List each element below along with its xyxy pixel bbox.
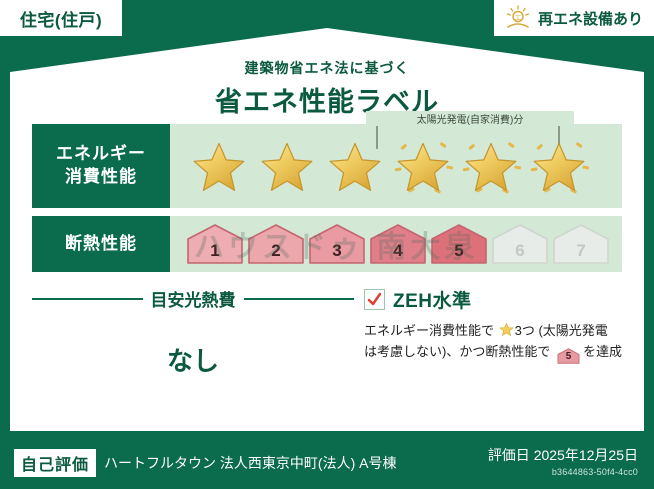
- insulation-grade-number: 4: [393, 241, 402, 265]
- insulation-grade-3: 3: [308, 223, 366, 265]
- zeh-heading: ZEH水準: [364, 286, 632, 313]
- insulation-grade-badge-value: 5: [557, 348, 580, 365]
- insulation-grade-number: 5: [454, 241, 463, 265]
- insulation-grade-badge-icon: 5: [557, 348, 580, 364]
- insulation-grade-number: 6: [515, 241, 524, 265]
- utility-cost-box: 目安光熱費 なし: [32, 286, 354, 378]
- property-name: ハートフルタウン 法人西東京中町(法人) A号棟: [104, 453, 396, 473]
- performance-rows: エネルギー 消費性能 太陽光発電(自家消費)分: [32, 124, 622, 280]
- star-icon: [325, 136, 385, 196]
- zeh-description: エネルギー消費性能で 3つ (太陽光発電 は考慮しない)、かつ断熱性能で 5 を…: [364, 320, 632, 364]
- solar-bracket-label: 太陽光発電(自家消費)分: [366, 111, 574, 126]
- lower-section: 目安光熱費 なし ZEH水準 エネルギー消費性能で: [32, 286, 632, 378]
- insulation-grade-1: 1: [186, 223, 244, 265]
- insulation-grade-number: 2: [271, 241, 280, 265]
- renewable-badge-label: 再エネ設備あり: [538, 8, 643, 29]
- zeh-desc-part2: 3つ (太陽光発電: [515, 323, 608, 338]
- label-card: 建築物省エネ法に基づく 省エネ性能ラベル エネルギー 消費性能 太陽光発電(自家…: [10, 28, 644, 431]
- svg-text:エ: エ: [515, 15, 522, 22]
- star-icon: [393, 136, 453, 196]
- housing-type-label: 住宅(住戸): [20, 6, 102, 31]
- housing-type-tag: 住宅(住戸): [0, 0, 122, 36]
- sun-solar-icon: エ: [504, 5, 532, 31]
- star-base: [186, 133, 252, 199]
- zeh-desc-part3: は考慮しない)、かつ断熱性能で: [364, 344, 550, 359]
- insulation-grade-number: 3: [332, 241, 341, 265]
- insulation-grade-5: 5: [430, 223, 488, 265]
- star-icon: [461, 136, 521, 196]
- zeh-box: ZEH水準 エネルギー消費性能で 3つ (太陽光発電 は考慮しない)、かつ断熱性…: [354, 286, 632, 378]
- zeh-desc-part4: を達成: [583, 344, 622, 359]
- footer-right: 評価日 2025年12月25日 b3644863-50f4-4cc0: [488, 445, 638, 477]
- star-icon: [499, 322, 514, 337]
- renewable-equipment-badge: エ 再エネ設備あり: [494, 0, 654, 36]
- check-icon: [367, 292, 382, 307]
- star-base: [254, 133, 320, 199]
- star-base: [322, 133, 388, 199]
- star-icon: [257, 136, 317, 196]
- card-title: 建築物省エネ法に基づく 省エネ性能ラベル: [10, 58, 644, 119]
- rule-left: [32, 298, 143, 300]
- star-solar: [458, 133, 524, 199]
- footer-left: 自己評価 ハートフルタウン 法人西東京中町(法人) A号棟: [14, 449, 396, 477]
- insulation-performance-key: 断熱性能: [32, 216, 170, 272]
- rule-right: [244, 298, 355, 300]
- self-evaluation-badge: 自己評価: [14, 449, 96, 477]
- evaluation-date: 評価日 2025年12月25日: [488, 445, 638, 465]
- star-solar: [526, 133, 592, 199]
- zeh-checkbox: [364, 289, 385, 310]
- star-icon: [529, 136, 589, 196]
- utility-cost-heading: 目安光熱費: [32, 286, 354, 311]
- energy-performance-value: 太陽光発電(自家消費)分: [170, 124, 622, 208]
- insulation-grade-number: 1: [210, 241, 219, 265]
- zeh-title: ZEH水準: [393, 286, 472, 313]
- energy-performance-row: エネルギー 消費性能 太陽光発電(自家消費)分: [32, 124, 622, 208]
- utility-cost-value: なし: [32, 341, 354, 378]
- insulation-performance-value: 1 2 3 4 5 6 7 ハウスドゥ 南大泉: [170, 216, 622, 272]
- insulation-grade-6: 6: [491, 223, 549, 265]
- star-solar: [390, 133, 456, 199]
- insulation-grade-scale: 1 2 3 4 5 6 7: [186, 223, 610, 265]
- evaluation-id: b3644863-50f4-4cc0: [488, 467, 638, 477]
- insulation-grade-7: 7: [552, 223, 610, 265]
- energy-performance-key: エネルギー 消費性能: [32, 124, 170, 208]
- footer: 自己評価 ハートフルタウン 法人西東京中町(法人) A号棟 評価日 2025年1…: [0, 435, 654, 489]
- insulation-grade-4: 4: [369, 223, 427, 265]
- title-subtitle: 建築物省エネ法に基づく: [10, 58, 644, 78]
- insulation-grade-number: 7: [576, 241, 585, 265]
- insulation-grade-2: 2: [247, 223, 305, 265]
- star-icon: [189, 136, 249, 196]
- insulation-performance-row: 断熱性能 1 2 3 4 5 6 7 ハウスドゥ 南大泉: [32, 216, 622, 272]
- energy-performance-label: 住宅(住戸) エ 再エネ設備あり 建築物省エネ法に基づく 省エネ性能ラベル: [0, 0, 654, 489]
- utility-cost-title: 目安光熱費: [151, 286, 236, 311]
- zeh-desc-part1: エネルギー消費性能で: [364, 323, 494, 338]
